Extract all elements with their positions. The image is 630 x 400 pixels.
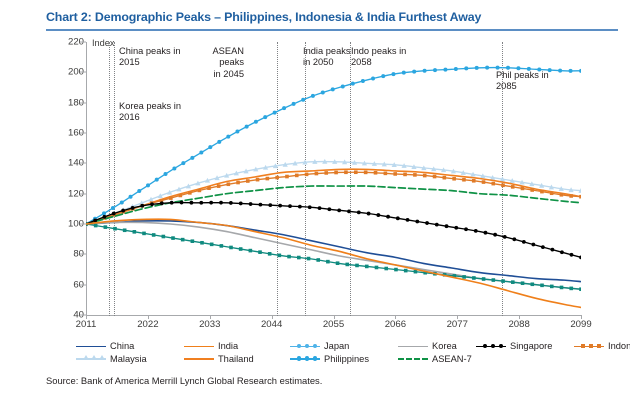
data-point <box>254 120 258 124</box>
data-point <box>142 232 146 236</box>
data-point <box>503 235 507 239</box>
data-point <box>511 280 515 284</box>
data-point <box>452 177 456 181</box>
data-point <box>347 209 351 213</box>
y-tick-label: 120 <box>44 188 84 199</box>
data-point <box>493 233 497 237</box>
data-point <box>104 225 108 229</box>
data-point <box>268 252 272 256</box>
data-point <box>285 175 289 179</box>
data-point <box>569 69 573 73</box>
data-point <box>570 253 574 257</box>
data-point <box>474 229 478 233</box>
data-point <box>133 230 137 234</box>
data-point <box>550 285 554 289</box>
data-point <box>354 170 358 174</box>
legend-label: Korea <box>432 341 457 351</box>
y-tick-label: 60 <box>44 279 84 290</box>
data-point <box>475 66 479 70</box>
data-point <box>550 191 554 195</box>
legend-item-malaysia[interactable]: Malaysia <box>76 354 147 364</box>
data-point <box>123 228 127 232</box>
data-point <box>292 102 296 106</box>
data-point <box>181 161 185 165</box>
data-point <box>433 68 437 72</box>
data-point <box>208 145 212 149</box>
legend-item-japan[interactable]: Japan <box>290 341 349 351</box>
data-point <box>414 270 418 274</box>
data-point <box>93 218 97 222</box>
data-point <box>326 260 330 264</box>
data-point <box>113 227 117 231</box>
data-point <box>345 263 349 267</box>
data-point <box>403 173 407 177</box>
data-point <box>172 166 176 170</box>
legend-label: Japan <box>324 341 349 351</box>
data-point <box>160 201 164 205</box>
legend-swatch-icon <box>476 342 506 351</box>
data-point <box>512 237 516 241</box>
y-tick-label: 180 <box>44 97 84 108</box>
x-tick-mark <box>210 315 211 319</box>
data-point <box>376 213 380 217</box>
data-point <box>207 186 211 190</box>
legend-label: India <box>218 341 238 351</box>
legend-label: Singapore <box>510 341 552 351</box>
data-point <box>94 224 98 228</box>
data-point <box>464 227 468 231</box>
data-point <box>462 178 466 182</box>
data-point <box>282 106 286 110</box>
x-tick-mark <box>334 315 335 319</box>
data-point <box>472 276 476 280</box>
data-point <box>361 79 365 83</box>
data-point <box>179 194 183 198</box>
data-point <box>249 249 253 253</box>
data-point <box>433 175 437 179</box>
data-point <box>275 176 279 180</box>
y-tick-label: 100 <box>44 219 84 230</box>
series-indonesia <box>86 170 581 225</box>
data-point <box>246 179 250 183</box>
x-tick-mark <box>148 315 149 319</box>
data-point <box>404 269 408 273</box>
data-point <box>239 202 243 206</box>
x-tick-label: 2077 <box>447 319 468 330</box>
chart-title: Chart 2: Demographic Peaks – Philippines… <box>46 10 612 24</box>
data-point <box>443 176 447 180</box>
legend-label: Thailand <box>218 354 254 364</box>
legend-label: ASEAN-7 <box>432 354 472 364</box>
data-point <box>102 211 106 215</box>
data-point <box>527 67 531 71</box>
legend-item-philippines[interactable]: Philippines <box>290 354 369 364</box>
data-point <box>181 238 185 242</box>
data-point <box>443 68 447 72</box>
y-tick-label: 80 <box>44 249 84 260</box>
data-point <box>413 173 417 177</box>
series-asean-7 <box>86 186 581 224</box>
data-point <box>412 70 416 74</box>
data-point <box>364 171 368 175</box>
data-point <box>579 255 581 259</box>
data-point <box>381 74 385 78</box>
data-point <box>219 201 223 205</box>
data-point <box>548 68 552 72</box>
data-point <box>245 125 249 129</box>
legend-swatch-icon <box>76 342 106 351</box>
data-point <box>220 244 224 248</box>
x-tick-mark <box>395 315 396 319</box>
source-note: Source: Bank of America Merrill Lynch Gl… <box>46 375 322 386</box>
data-point <box>102 215 106 219</box>
data-point <box>541 245 545 249</box>
data-point <box>344 170 348 174</box>
legend-swatch-icon <box>76 354 106 363</box>
data-point <box>171 236 175 240</box>
data-point <box>482 180 486 184</box>
legend-swatch-icon <box>184 354 214 363</box>
data-point <box>288 204 292 208</box>
data-point <box>327 207 331 211</box>
data-point <box>406 218 410 222</box>
data-point <box>501 279 505 283</box>
series-china <box>86 221 581 282</box>
data-point <box>331 87 335 91</box>
data-point <box>146 183 150 187</box>
data-point <box>355 264 359 268</box>
x-tick-mark <box>457 315 458 319</box>
data-point <box>258 250 262 254</box>
data-point <box>180 201 184 205</box>
data-point <box>259 203 263 207</box>
data-point <box>482 277 486 281</box>
data-point <box>579 69 581 73</box>
legend-swatch-icon <box>290 342 320 351</box>
legend-label: Philippines <box>324 354 369 364</box>
x-tick-label: 2066 <box>385 319 406 330</box>
y-tick-label: 160 <box>44 128 84 139</box>
data-point <box>492 278 496 282</box>
data-point <box>391 72 395 76</box>
x-tick-label: 2088 <box>508 319 529 330</box>
data-point <box>188 191 192 195</box>
data-point <box>402 71 406 75</box>
legend-swatch-icon <box>398 342 428 351</box>
data-point <box>137 189 141 193</box>
chart-screenshot: Chart 2: Demographic Peaks – Philippines… <box>0 0 630 400</box>
y-tick-label: 220 <box>44 37 84 48</box>
data-point <box>111 206 115 210</box>
data-point <box>365 265 369 269</box>
data-point <box>226 135 230 139</box>
data-point <box>112 212 116 216</box>
data-point <box>454 67 458 71</box>
legend-item-indonesia[interactable]: Indonesia <box>574 341 630 351</box>
data-point <box>295 174 299 178</box>
data-point <box>511 185 515 189</box>
data-point <box>150 202 154 206</box>
data-point <box>305 173 309 177</box>
data-point <box>367 212 371 216</box>
data-point <box>321 91 325 95</box>
data-point <box>484 231 488 235</box>
data-point <box>155 178 159 182</box>
legend-swatch-icon <box>398 354 428 363</box>
data-point <box>560 250 564 254</box>
data-point <box>301 98 305 102</box>
title-underline <box>46 29 618 31</box>
x-tick-label: 2055 <box>323 319 344 330</box>
data-point <box>229 201 233 205</box>
data-point <box>298 205 302 209</box>
data-point <box>199 151 203 155</box>
series-korea <box>86 222 581 289</box>
data-point <box>235 130 239 134</box>
data-point <box>316 258 320 262</box>
data-point <box>386 215 390 219</box>
data-point <box>311 94 315 98</box>
data-point <box>308 205 312 209</box>
x-tick-mark <box>581 315 582 319</box>
data-point <box>217 140 221 144</box>
data-point <box>315 172 319 176</box>
legend-swatch-icon <box>290 354 320 363</box>
data-point <box>516 66 520 70</box>
data-point <box>307 257 311 261</box>
data-point <box>522 240 526 244</box>
x-tick-label: 2022 <box>137 319 158 330</box>
data-point <box>384 267 388 271</box>
data-point <box>357 210 361 214</box>
data-point <box>210 243 214 247</box>
data-point <box>485 66 489 70</box>
data-point <box>496 66 500 70</box>
x-tick-label: 2011 <box>76 319 97 330</box>
data-point <box>278 204 282 208</box>
x-tick-mark <box>519 315 520 319</box>
data-point <box>199 201 203 205</box>
data-point <box>287 255 291 259</box>
data-point <box>217 184 221 188</box>
data-point <box>415 220 419 224</box>
x-tick-label: 2033 <box>199 319 220 330</box>
data-point <box>170 201 174 205</box>
legend-swatch-icon <box>574 342 604 351</box>
data-point <box>537 67 541 71</box>
data-point <box>560 286 564 290</box>
data-point <box>351 82 355 86</box>
data-point <box>384 172 388 176</box>
legend-item-china[interactable]: China <box>76 341 134 351</box>
data-point <box>521 187 525 191</box>
data-point <box>425 221 429 225</box>
data-point <box>569 287 573 291</box>
legend-item-singapore[interactable]: Singapore <box>476 341 552 351</box>
data-point <box>540 284 544 288</box>
data-point <box>464 66 468 70</box>
x-tick-label: 2044 <box>261 319 282 330</box>
data-point <box>273 111 277 115</box>
data-point <box>375 266 379 270</box>
data-point <box>540 190 544 194</box>
data-point <box>164 172 168 176</box>
legend-item-asean-7[interactable]: ASEAN-7 <box>398 354 472 364</box>
data-point <box>423 69 427 73</box>
data-point <box>393 172 397 176</box>
data-point <box>560 193 564 197</box>
data-point <box>152 233 156 237</box>
chart-legend: ChinaIndiaJapanKoreaSingaporeIndonesiaMa… <box>76 341 616 367</box>
data-point <box>472 179 476 183</box>
x-tick-mark <box>86 315 87 319</box>
data-point <box>190 156 194 160</box>
data-point <box>297 256 301 260</box>
data-point <box>371 77 375 81</box>
data-point <box>200 241 204 245</box>
data-point <box>129 195 133 199</box>
data-point <box>506 66 510 70</box>
legend-label: Malaysia <box>110 354 147 364</box>
data-point <box>334 171 338 175</box>
data-point <box>191 239 195 243</box>
data-point <box>341 84 345 88</box>
y-tick-label: 140 <box>44 158 84 169</box>
legend-item-thailand[interactable]: Thailand <box>184 354 254 364</box>
data-point <box>579 287 581 291</box>
data-point <box>256 178 260 182</box>
data-point <box>318 206 322 210</box>
data-point <box>169 196 173 200</box>
legend-label: Indonesia <box>608 341 630 351</box>
data-point <box>551 248 555 252</box>
series-india <box>86 219 581 307</box>
data-point <box>198 189 202 193</box>
data-point <box>445 224 449 228</box>
data-point <box>263 115 267 119</box>
data-point <box>491 182 495 186</box>
data-point <box>229 246 233 250</box>
data-point <box>423 174 427 178</box>
data-point <box>374 171 378 175</box>
data-point <box>435 223 439 227</box>
data-point <box>558 69 562 73</box>
data-point <box>140 204 144 208</box>
data-point <box>268 203 272 207</box>
data-point <box>131 206 135 210</box>
legend-swatch-icon <box>184 342 214 351</box>
data-point <box>190 201 194 205</box>
data-point <box>209 201 213 205</box>
x-tick-label: 2099 <box>570 319 591 330</box>
data-point <box>121 209 125 213</box>
y-tick-label: 200 <box>44 67 84 78</box>
data-point <box>530 282 534 286</box>
series-japan <box>86 222 581 291</box>
data-point <box>531 243 535 247</box>
data-point <box>324 171 328 175</box>
legend-item-india[interactable]: India <box>184 341 238 351</box>
data-point <box>336 261 340 265</box>
x-tick-mark <box>272 315 273 319</box>
data-point <box>462 275 466 279</box>
data-point <box>569 194 573 198</box>
data-point <box>239 247 243 251</box>
data-point <box>394 268 398 272</box>
legend-item-korea[interactable]: Korea <box>398 341 457 351</box>
data-point <box>249 202 253 206</box>
data-point <box>236 181 240 185</box>
data-point <box>396 216 400 220</box>
data-point <box>454 226 458 230</box>
data-point <box>162 235 166 239</box>
legend-label: China <box>110 341 134 351</box>
data-point <box>579 195 581 199</box>
data-point <box>501 183 505 187</box>
data-point <box>521 281 525 285</box>
plot-area <box>86 42 581 315</box>
data-point <box>278 254 282 258</box>
data-point <box>227 182 231 186</box>
data-point <box>120 200 124 204</box>
data-point <box>530 188 534 192</box>
data-point <box>337 208 341 212</box>
data-point <box>266 177 270 181</box>
